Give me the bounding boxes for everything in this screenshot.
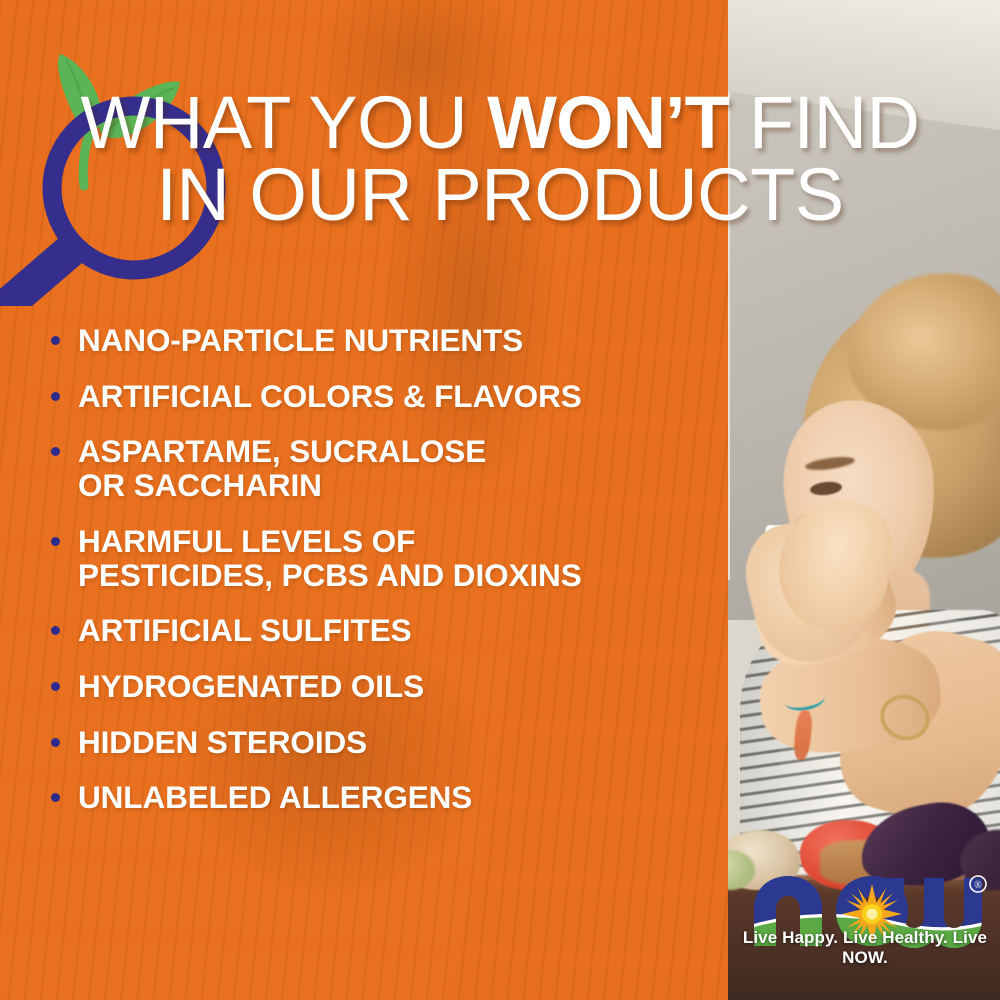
bullet-dot-icon xyxy=(51,537,60,546)
headline-emphasis: WON’T xyxy=(487,81,729,164)
bullet-dot-icon xyxy=(51,682,60,691)
bullet-dot-icon xyxy=(51,336,60,345)
list-item: ASPARTAME, SUCRALOSE OR SACCHARIN xyxy=(50,435,710,502)
excluded-ingredients-list: NANO-PARTICLE NUTRIENTS ARTIFICIAL COLOR… xyxy=(50,324,710,837)
list-item-line-1: ARTIFICIAL SULFITES xyxy=(78,612,412,648)
list-item-line-1: NANO-PARTICLE NUTRIENTS xyxy=(78,322,523,358)
list-item: HIDDEN STEROIDS xyxy=(50,726,710,760)
promo-poster: WHAT YOU WON’T FIND IN OUR PRODUCTS NANO… xyxy=(0,0,1000,1000)
page-title: WHAT YOU WON’T FIND IN OUR PRODUCTS xyxy=(0,88,1000,231)
list-item-line-1: HYDROGENATED OILS xyxy=(78,668,424,704)
list-item-line-1: HARMFUL LEVELS OF xyxy=(78,523,415,559)
list-item: UNLABELED ALLERGENS xyxy=(50,781,710,815)
bullet-dot-icon xyxy=(51,447,60,456)
list-item-line-1: UNLABELED ALLERGENS xyxy=(78,779,472,815)
list-item-line-2: PESTICIDES, PCBS AND DIOXINS xyxy=(78,559,710,593)
list-item: ARTIFICIAL COLORS & FLAVORS xyxy=(50,380,710,414)
list-item-line-2: OR SACCHARIN xyxy=(78,469,710,503)
list-item-line-1: ARTIFICIAL COLORS & FLAVORS xyxy=(78,378,582,414)
headline-line-2: IN OUR PRODUCTS xyxy=(0,160,1000,230)
list-item: ARTIFICIAL SULFITES xyxy=(50,614,710,648)
list-item-line-1: HIDDEN STEROIDS xyxy=(78,724,367,760)
headline-line-1-prefix: WHAT YOU xyxy=(81,81,488,164)
list-item: HARMFUL LEVELS OF PESTICIDES, PCBS AND D… xyxy=(50,525,710,592)
headline-line-1-suffix: FIND xyxy=(729,81,920,164)
svg-text:®: ® xyxy=(974,880,982,891)
list-item: NANO-PARTICLE NUTRIENTS xyxy=(50,324,710,358)
bullet-dot-icon xyxy=(51,392,60,401)
logo-tagline: Live Happy. Live Healthy. Live NOW. xyxy=(740,928,990,968)
headline-line-1: WHAT YOU WON’T FIND xyxy=(0,88,1000,158)
bullet-dot-icon xyxy=(51,738,60,747)
list-item: HYDROGENATED OILS xyxy=(50,670,710,704)
list-item-line-1: ASPARTAME, SUCRALOSE xyxy=(78,433,486,469)
bullet-dot-icon xyxy=(51,793,60,802)
bullet-dot-icon xyxy=(51,626,60,635)
